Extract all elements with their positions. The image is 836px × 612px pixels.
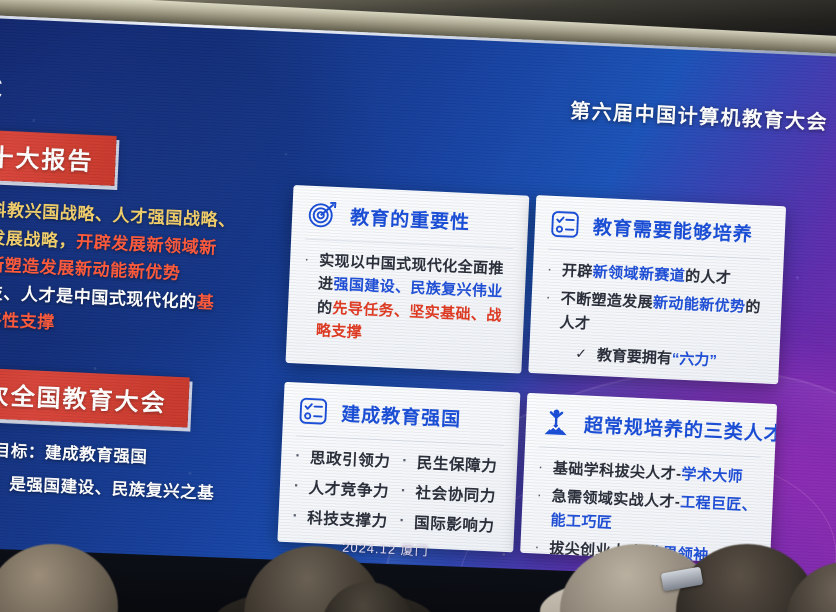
bullet-dot: · [304, 249, 310, 272]
card-header: 教育需要能够培养 [548, 208, 772, 260]
bullet-dot: · [400, 482, 407, 500]
target-icon [306, 198, 339, 231]
power-label: 民生保障力 [416, 451, 497, 477]
banner-twentieth-congress-report: 二十大报告 [0, 127, 117, 186]
bullet-pre: 基础学科拔尖人才- [553, 460, 682, 483]
list-item: ·社会协同力 [400, 480, 502, 507]
bullet-dot: · [534, 536, 540, 559]
power-label: 人才竞争力 [308, 476, 389, 502]
bullet-dot: · [536, 485, 542, 508]
bullet-text: 基础学科拔尖人才-学术大师 [552, 457, 743, 489]
bullet-pre: 不断塑造发展 [560, 291, 653, 312]
power-label: 国际影响力 [414, 511, 495, 537]
slide-footer-date-location: 2024.12 厦门 [342, 537, 429, 560]
bullet-highlight: 学术大师 [681, 466, 743, 486]
banner-national-education-label: 二次全国教育大会 [0, 381, 167, 417]
bullet-text: 实现以中国式现代化全面推进强国建设、民族复兴伟业的先导任务、坚实基础、战略支撑 [315, 249, 512, 351]
report-line-4-highlight: 基 [196, 292, 214, 312]
education-goals-block: 教育的战略目标：建成教育强国 教育的定位：是强国建设、民族复兴之基 [0, 430, 235, 511]
list-item: ·国际影响力 [399, 510, 501, 537]
check-text: 教育要拥有“六力” [596, 344, 717, 370]
bullet-dot: · [402, 452, 409, 470]
report-line-2-text: 创新驱动发展战略， [0, 225, 77, 251]
bullet-seg-red: 先导任务、坚实基础、战略支撑 [316, 299, 502, 341]
card-education-importance: 教育的重要性 · 实现以中国式现代化全面推进强国建设、民族复兴伟业的先导任务、坚… [286, 185, 530, 374]
bullet-pre: 开辟 [562, 262, 594, 280]
check-text-pre: 教育要拥有 [597, 347, 673, 367]
bullet-dot: · [294, 477, 301, 495]
checklist-icon [548, 208, 581, 241]
bullet-highlight: 新动能新优势 [653, 295, 746, 316]
card-header: 建成教育强国 [296, 394, 506, 445]
card-build-strong-education-nation: 建成教育强国 ·思政引领力 ·民生保障力 ·人才竞争力 ·社会协同力 ·科技支撑… [277, 382, 520, 553]
banner-twentieth-congress-label: 二十大报告 [0, 143, 94, 176]
bullet-dot: · [537, 456, 543, 479]
card-bullet-list: · 开辟新领域新赛道的人才 · 不断塑造发展新动能新优势的人才 [544, 259, 769, 344]
list-item: · 不断塑造发展新动能新优势的人才 [544, 287, 768, 344]
card-header: 教育的重要性 [305, 198, 515, 249]
check-highlight-line: ✓ 教育要拥有“六力” [543, 341, 766, 372]
report-line-5-highlight: 础性、战略性支撑 [0, 307, 55, 332]
bullet-dot: · [292, 507, 299, 525]
bullet-seg-plain-2: 的 [317, 299, 333, 317]
list-item: ·科技支撑力 [292, 505, 394, 532]
checklist-icon [297, 394, 330, 427]
bullet-dot: · [399, 512, 406, 530]
power-label: 思政引领力 [310, 446, 391, 472]
bullet-post: 的人才 [685, 268, 732, 287]
check-icon: ✓ [575, 345, 587, 363]
list-item: ·人才竞争力 [293, 475, 395, 502]
bullet-text: 不断塑造发展新动能新优势的人才 [559, 288, 768, 344]
bullet-text: 开辟新领域新赛道的人才 [561, 259, 731, 290]
power-label: 科技支撑力 [307, 506, 388, 532]
list-item: ·思政引领力 [295, 445, 397, 472]
bullet-highlight: 新领域新赛道 [592, 264, 685, 285]
bullet-pre: 急需领域实战人才- [551, 488, 680, 511]
left-content-column: 二十大报告 深入实施科教兴国战略、人才强国战略、 创新驱动发展战略，开辟发展新领… [0, 127, 248, 511]
bullet-text: 急需领域实战人才-工程巨匠、能工巧匠 [550, 485, 759, 541]
card-title: 教育的重要性 [350, 202, 471, 234]
list-item: · 急需领域实战人才-工程巨匠、能工巧匠 [535, 485, 759, 542]
card-three-talent-types: 超常规培养的三类人才 · 基础学科拔尖人才-学术大师 · 急需领域实战人才-工程… [520, 393, 777, 564]
bullet-dot: · [545, 287, 551, 310]
led-screen: CC 第六届中国计算机教育大会 二十大报告 深入实施科教兴国战略、人才强国战略、… [0, 14, 836, 612]
slide-canvas: CC 第六届中国计算机教育大会 二十大报告 深入实施科教兴国战略、人才强国战略、… [0, 17, 836, 612]
conference-title: 第六届中国计算机教育大会 [570, 95, 829, 136]
power-label: 社会协同力 [415, 481, 496, 507]
card-education-cultivation: 教育需要能够培养 · 开辟新领域新赛道的人才 · 不断塑造发展新动能新优势的人才… [528, 195, 786, 384]
photo-of-presentation-screen: CC 第六届中国计算机教育大会 二十大报告 深入实施科教兴国战略、人才强国战略、… [0, 0, 836, 612]
list-item: ·民生保障力 [402, 450, 504, 477]
card-title: 超常规培养的三类人才 [583, 410, 777, 446]
card-title: 建成教育强国 [341, 399, 462, 431]
list-item: · 开辟新领域新赛道的人才 [546, 259, 769, 292]
powers-grid: ·思政引领力 ·民生保障力 ·人才竞争力 ·社会协同力 ·科技支撑力 ·国际影响… [292, 445, 504, 536]
card-header: 超常规培养的三类人才 [539, 405, 763, 457]
report-quote-block: 深入实施科教兴国战略、人才强国战略、 创新驱动发展战略，开辟发展新领域新 赛道，… [0, 193, 245, 345]
report-line-2-highlight: 开辟发展新领域新 [76, 232, 218, 257]
check-text-highlight: “六力” [671, 350, 717, 369]
card-title: 教育需要能够培养 [592, 212, 753, 246]
ccec-logo: CC [0, 69, 3, 110]
card-bullet-list: · 实现以中国式现代化全面推进强国建设、民族复兴伟业的先导任务、坚实基础、战略支… [300, 249, 512, 351]
list-item: · 基础学科拔尖人才-学术大师 [537, 456, 760, 489]
bullet-dot: · [546, 259, 552, 282]
podium-person-icon [539, 405, 572, 438]
list-item: · 实现以中国式现代化全面推进强国建设、民族复兴伟业的先导任务、坚实基础、战略支… [300, 249, 512, 351]
bullet-seg-blue: 强国建设、民族复兴伟业 [333, 276, 503, 301]
bullet-dot: · [295, 447, 302, 465]
